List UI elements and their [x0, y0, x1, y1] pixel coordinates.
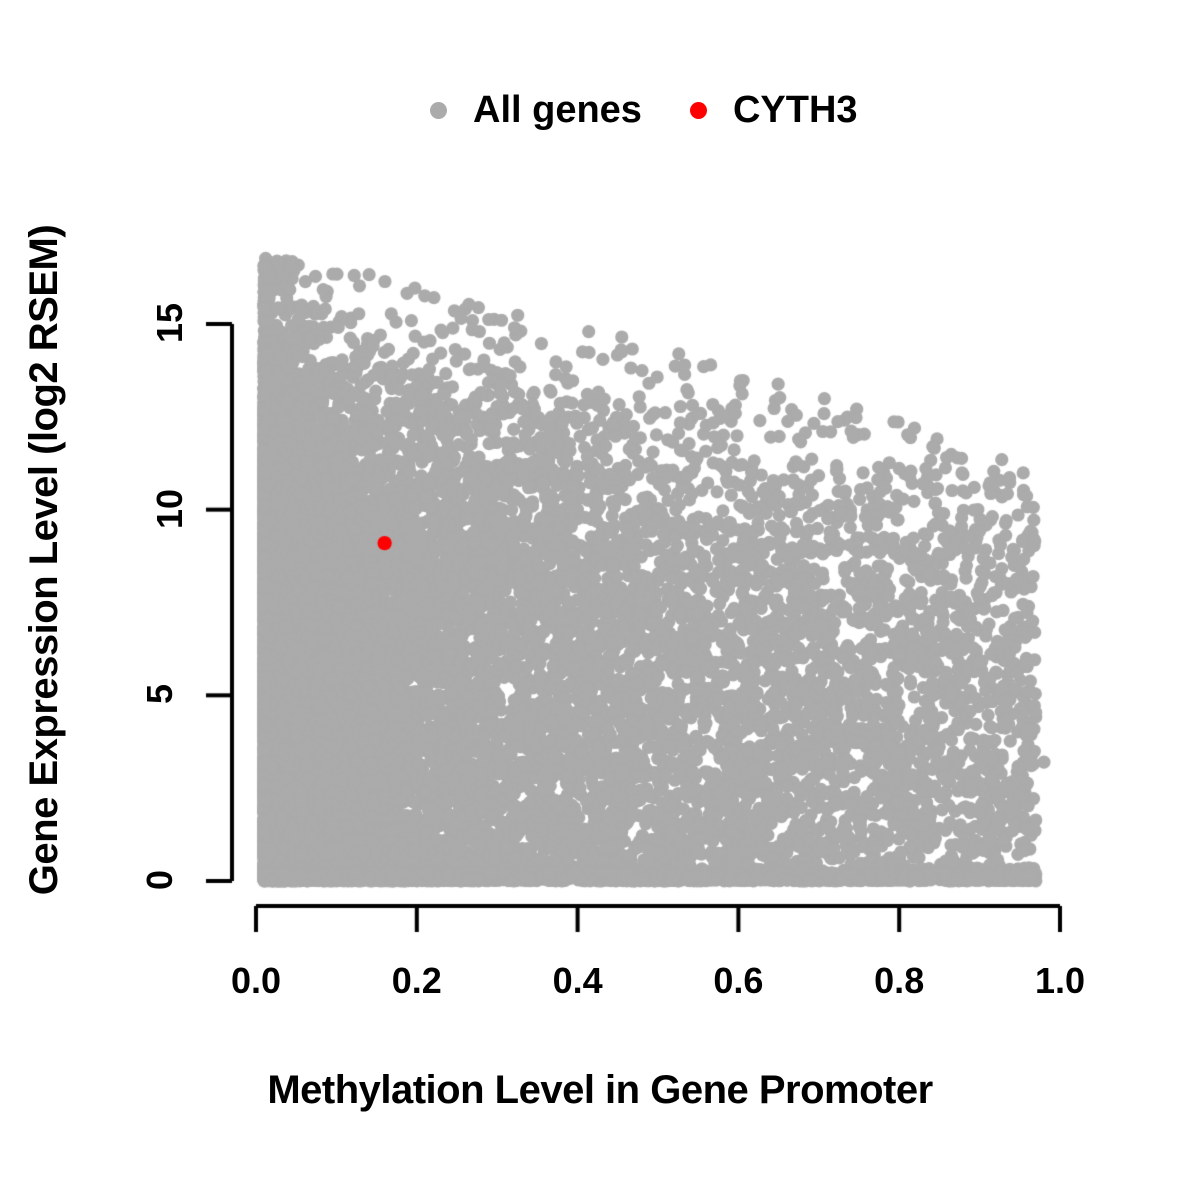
scatter-plot-figure: All genes CYTH3 Gene Expression Level (l…	[0, 0, 1200, 1200]
y-tick-label-2: 10	[150, 488, 190, 530]
legend-entry-cyth3: CYTH3	[690, 89, 858, 132]
y-axis-title: Gene Expression Level (log2 RSEM)	[14, 140, 74, 980]
y-axis-title-container: Gene Expression Level (log2 RSEM)	[14, 140, 74, 980]
legend-label-all-genes: All genes	[473, 89, 642, 132]
y-tick-label-3: 15	[150, 302, 190, 344]
chart-legend: All genes CYTH3	[430, 82, 858, 138]
x-tick-label-0: 0.0	[231, 960, 281, 1002]
legend-marker-cyth3-icon	[690, 102, 707, 119]
x-axis-title: Methylation Level in Gene Promoter	[0, 1068, 1200, 1113]
legend-label-cyth3: CYTH3	[733, 89, 858, 132]
scatter-plot-canvas	[0, 0, 1200, 1200]
legend-entry-all-genes: All genes	[430, 89, 642, 132]
y-tick-label-1: 5	[150, 673, 170, 715]
x-tick-label-5: 1.0	[1035, 960, 1085, 1002]
x-tick-label-3: 0.6	[713, 960, 763, 1002]
y-tick-label-0: 0	[150, 859, 170, 901]
legend-marker-all-genes-icon	[430, 102, 447, 119]
x-tick-label-2: 0.4	[553, 960, 603, 1002]
x-tick-label-1: 0.2	[392, 960, 442, 1002]
x-tick-label-4: 0.8	[874, 960, 924, 1002]
